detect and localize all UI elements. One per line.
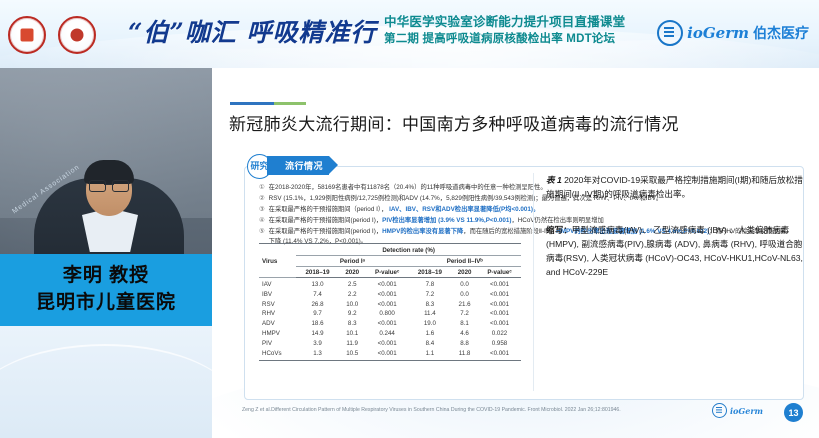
biogerm-logo-icon (657, 20, 683, 46)
table-caption: 表 1 2020年对COVID-19采取最严格控制措施期间(I期)和随后放松措施… (546, 173, 804, 201)
video-footer-arc (0, 344, 212, 438)
bullet-number: ④ (259, 216, 265, 226)
slide-footer-logo: ioGerm (712, 403, 763, 418)
cell-p2-2020: 0.0 (451, 289, 478, 299)
col-header-virus: Virus (259, 246, 296, 278)
cell-p2-pvalue: <0.001 (478, 278, 521, 290)
col-header-period-2: Period II–IVᵇ (409, 256, 521, 267)
bullet-text: 在采取最严格的干预措施期间(period Ⅰ)， (269, 228, 382, 235)
video-footer (0, 326, 212, 438)
cell-p2-2018: 7.2 (409, 289, 452, 299)
bullet-highlight: HMPV的检出率没有显著下降 (382, 228, 463, 235)
cell-p1-2020: 10.1 (339, 329, 366, 339)
speaker-affiliation: 昆明市儿童医院 (36, 289, 176, 317)
event-slogan: “伯”咖汇 呼吸精准行 (128, 10, 378, 56)
cell-p1-2020: 10.0 (339, 299, 366, 309)
section-tag: 流行情况 (267, 156, 329, 175)
table-row: IAV 13.0 2.5 <0.001 7.8 0.0 <0.001 (259, 278, 521, 290)
cell-p2-pvalue: 0.022 (478, 329, 521, 339)
cell-p1-2020: 2.2 (339, 289, 366, 299)
cell-virus: IAV (259, 278, 296, 290)
cell-p1-pvalue: <0.001 (366, 319, 409, 329)
event-banner: “伯”咖汇 呼吸精准行 中华医学实验室诊断能力提升项目直播课堂 第二期 提高呼吸… (0, 0, 819, 68)
table-bottom-rule (259, 360, 521, 361)
table-row: IBV 7.4 2.2 <0.001 7.2 0.0 <0.001 (259, 289, 521, 299)
col-header-detection-rate: Detection rate (%) (296, 246, 521, 256)
cell-p1-2020: 11.9 (339, 338, 366, 348)
cell-p1-2018: 3.9 (296, 338, 339, 348)
cell-p2-pvalue: <0.001 (478, 348, 521, 358)
cell-p1-2018: 26.8 (296, 299, 339, 309)
cell-virus: RSV (259, 299, 296, 309)
sponsor-logo-chinese: 伯杰医疗 (753, 23, 809, 43)
bullet-highlight: IAV、IBV、RSV和ADV检出率显著降低(P均<0.001)。 (389, 206, 539, 213)
col-header-p2-2018: 2018–19 (409, 267, 452, 278)
slide-title: 新冠肺炎大流行期间：中国南方多种呼吸道病毒的流行情况 (229, 110, 809, 135)
cell-p1-pvalue: 0.244 (366, 329, 409, 339)
slide-citation: Zeng Z et al.Different Circulation Patte… (242, 406, 712, 414)
table-row: HMPV 14.9 10.1 0.244 1.6 4.6 0.022 (259, 329, 521, 339)
table-row: RSV 26.8 10.0 <0.001 8.3 21.6 <0.001 (259, 299, 521, 309)
cell-p2-2020: 8.1 (451, 319, 478, 329)
table-caption-text: 2020年对COVID-19采取最严格控制措施期间(I期)和随后放松措施期间(I… (546, 175, 803, 199)
cell-p2-2020: 0.0 (451, 278, 478, 290)
slide-footer-logo-latin: ioGerm (730, 406, 763, 416)
cell-p2-2020: 4.6 (451, 329, 478, 339)
col-header-p1-2020: 2020 (339, 267, 366, 278)
abbreviation-label: 缩写： (546, 225, 572, 235)
cell-p2-2018: 11.4 (409, 309, 452, 319)
cell-p2-pvalue: 0.958 (478, 338, 521, 348)
table-commentary: 表 1 2020年对COVID-19采取最严格控制措施期间(I期)和随后放松措施… (533, 173, 804, 391)
bullet-number: ① (259, 183, 265, 193)
cell-p1-2020: 10.5 (339, 348, 366, 358)
cell-p2-2018: 19.0 (409, 319, 452, 329)
cell-p1-2020: 8.3 (339, 319, 366, 329)
cell-p2-pvalue: <0.001 (478, 289, 521, 299)
speaker-video-pane[interactable]: Medical Association 李明 教授 昆明市儿童医院 (0, 68, 212, 438)
medical-association-emblem-icon (8, 16, 46, 54)
cell-p2-2018: 8.3 (409, 299, 452, 309)
table-caption-label: 表 1 (546, 175, 562, 185)
table-header-row-1: Virus Detection rate (%) (259, 246, 521, 256)
table-row: ADV 18.6 8.3 <0.001 19.0 8.1 <0.001 (259, 319, 521, 329)
sponsor-logo-latin: ioGerm (687, 24, 749, 42)
table-header-row-3: 2018–19 2020 P-valueᶜ 2018–19 2020 P-val… (259, 267, 521, 278)
col-header-period-1: Period Iᵃ (296, 256, 408, 267)
cell-p2-2020: 7.2 (451, 309, 478, 319)
presentation-slide[interactable]: 新冠肺炎大流行期间：中国南方多种呼吸道病毒的流行情况 研究 流行情况 ① 在20… (212, 68, 819, 438)
cell-p2-2018: 8.4 (409, 338, 452, 348)
detection-rate-table-wrap: Virus Detection rate (%) Period Iᵃ Perio… (259, 243, 521, 361)
col-header-p1-2018: 2018–19 (296, 267, 339, 278)
cell-p2-pvalue: <0.001 (478, 309, 521, 319)
col-header-p2-pvalue: P-valueᶜ (478, 267, 521, 278)
event-subtitle-line1: 中华医学实验室诊断能力提升项目直播课堂 (384, 14, 634, 31)
table-row: HCoVs 1.3 10.5 <0.001 1.1 11.8 <0.001 (259, 348, 521, 358)
cell-p1-2018: 13.0 (296, 278, 339, 290)
event-subtitle-line2: 第二期 提高呼吸道病原核酸检出率 MDT论坛 (384, 31, 634, 48)
cell-p2-2018: 1.6 (409, 329, 452, 339)
cell-p1-2018: 14.9 (296, 329, 339, 339)
table-body: IAV 13.0 2.5 <0.001 7.8 0.0 <0.001 IBV 7… (259, 278, 521, 358)
cell-p2-pvalue: <0.001 (478, 319, 521, 329)
event-subtitle: 中华医学实验室诊断能力提升项目直播课堂 第二期 提高呼吸道病原核酸检出率 MDT… (384, 14, 634, 48)
cell-p1-pvalue: <0.001 (366, 278, 409, 290)
cell-p2-2018: 7.8 (409, 278, 452, 290)
cell-p1-2018: 9.7 (296, 309, 339, 319)
cell-p1-2018: 18.6 (296, 319, 339, 329)
speaker-name-bar: 李明 教授 昆明市儿童医院 (0, 254, 212, 326)
cell-p2-2020: 8.8 (451, 338, 478, 348)
bullet-number: ③ (259, 205, 265, 215)
cell-virus: RHV (259, 309, 296, 319)
abbreviation-block: 缩写：甲型流感病毒(IAV)、 乙型流感病毒 (IBV) 、人类偏肺病毒 (HM… (546, 223, 804, 279)
cell-virus: HCoVs (259, 348, 296, 358)
bullet-text: 在采取最严格的干预措施期间(period Ⅰ)， (269, 217, 382, 224)
cell-p2-2020: 21.6 (451, 299, 478, 309)
table-row: PIV 3.9 11.9 <0.001 8.4 8.8 0.958 (259, 338, 521, 348)
cell-p2-pvalue: <0.001 (478, 299, 521, 309)
cell-p1-2020: 9.2 (339, 309, 366, 319)
cell-p1-2018: 7.4 (296, 289, 339, 299)
table-row: RHV 9.7 9.2 0.800 11.4 7.2 <0.001 (259, 309, 521, 319)
abbreviation-text: 甲型流感病毒(IAV)、 乙型流感病毒 (IBV) 、人类偏肺病毒 (HMPV)… (546, 225, 803, 277)
sponsor-logo: ioGerm 伯杰医疗 (657, 20, 809, 46)
cell-virus: ADV (259, 319, 296, 329)
title-rule (230, 102, 306, 105)
speaker-name: 李明 教授 (63, 263, 149, 289)
emblem-group (8, 16, 96, 54)
cell-p2-2020: 11.8 (451, 348, 478, 358)
col-header-p1-pvalue: P-valueᶜ (366, 267, 409, 278)
institute-emblem-icon (58, 16, 96, 54)
bullet-highlight: PIV检出率显著增加 (3.9% VS 11.9%,P<0.001) (382, 217, 511, 224)
cell-p1-pvalue: 0.800 (366, 309, 409, 319)
table-top-rule (259, 243, 521, 244)
cell-p1-2018: 1.3 (296, 348, 339, 358)
col-header-p2-2020: 2020 (451, 267, 478, 278)
cell-virus: PIV (259, 338, 296, 348)
cell-p1-pvalue: <0.001 (366, 299, 409, 309)
bullet-number: ② (259, 194, 265, 204)
biogerm-logo-icon (712, 403, 727, 418)
cell-p1-pvalue: <0.001 (366, 289, 409, 299)
table-header-row-2: Period Iᵃ Period II–IVᵇ (259, 256, 521, 267)
cell-p2-2018: 1.1 (409, 348, 452, 358)
cell-p1-2020: 2.5 (339, 278, 366, 290)
speaker-glasses-icon (89, 180, 129, 190)
screen: “伯”咖汇 呼吸精准行 中华医学实验室诊断能力提升项目直播课堂 第二期 提高呼吸… (0, 0, 819, 438)
slide-page-number: 13 (784, 403, 803, 422)
bullet-text: 在采取最严格的干预措施期间（period Ⅰ）， (269, 206, 389, 213)
cell-virus: IBV (259, 289, 296, 299)
cell-p1-pvalue: <0.001 (366, 348, 409, 358)
cell-virus: HMPV (259, 329, 296, 339)
detection-rate-table: Virus Detection rate (%) Period Iᵃ Perio… (259, 246, 521, 358)
slide-content-box: 研究 流行情况 ① 在2018-2020年，58169名患者中有11878名（2… (244, 166, 804, 400)
cell-p1-pvalue: <0.001 (366, 338, 409, 348)
